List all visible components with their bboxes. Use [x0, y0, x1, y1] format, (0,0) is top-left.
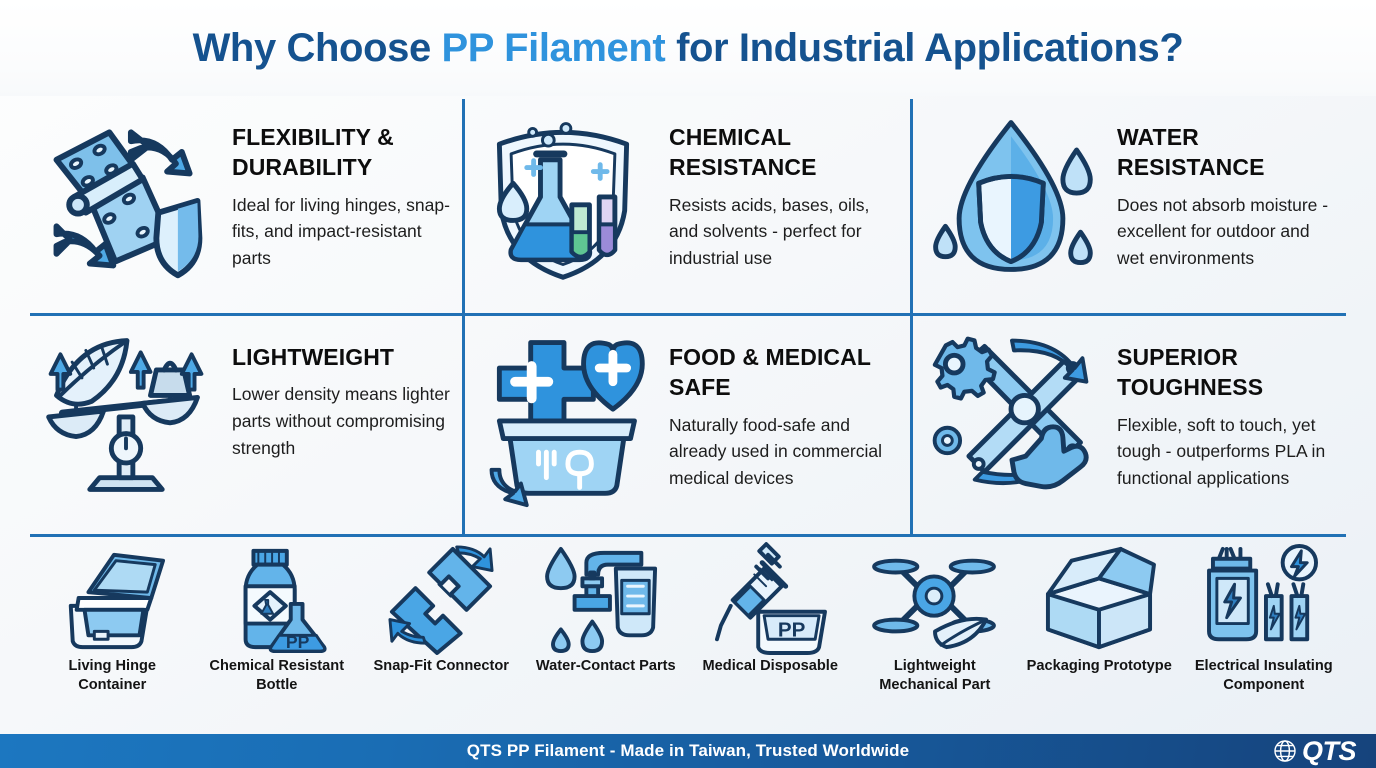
application-label: Living Hinge Container — [30, 657, 195, 694]
feature-card-chemical-resistance: CHEMICAL RESISTANCE Resists acids, bases… — [467, 100, 897, 314]
feature-text-block: WATER RESISTANCE Does not absorb moistur… — [1107, 100, 1346, 272]
globe-icon — [1272, 738, 1298, 764]
medical-cross-heart-container-icon — [467, 320, 659, 512]
grid-divider-vertical-2 — [910, 99, 913, 537]
application-label: Water-Contact Parts — [532, 657, 680, 676]
page-title-accent: PP Filament — [442, 26, 666, 70]
application-item-packaging-prototype: Packaging Prototype — [1017, 541, 1182, 727]
feature-card-flexibility-durability: FLEXIBILITY & DURABILITY Ideal for livin… — [30, 100, 460, 314]
feather-scale-icon — [30, 320, 222, 512]
feature-text-block: FOOD & MEDICAL SAFE Naturally food-safe … — [659, 320, 897, 492]
feature-heading: CHEMICAL RESISTANCE — [669, 122, 891, 183]
application-label: Electrical Insulating Component — [1182, 657, 1347, 694]
feature-heading: LIGHTWEIGHT — [232, 342, 450, 372]
footer-tagline: QTS PP Filament - Made in Taiwan, Truste… — [0, 741, 1376, 761]
feature-body: Naturally food-safe and already used in … — [669, 412, 887, 492]
open-box-icon — [1017, 541, 1182, 657]
application-label: Snap-Fit Connector — [370, 657, 513, 676]
page-title-part2: for Industrial Applications? — [665, 26, 1183, 70]
feature-body: Flexible, soft to touch, yet tough - out… — [1117, 412, 1340, 492]
gear-beam-hand-icon — [915, 320, 1107, 512]
hinge-flex-shield-icon — [30, 100, 222, 292]
application-item-living-hinge-container: Living Hinge Container — [30, 541, 195, 727]
faucet-filter-droplet-icon — [524, 541, 689, 657]
grid-divider-vertical-1 — [462, 99, 465, 537]
application-item-lightweight-mechanical-part: Lightweight Mechanical Part — [853, 541, 1018, 727]
feature-body: Lower density means lighter parts withou… — [232, 381, 450, 461]
syringe-tray-icon: PP — [688, 541, 853, 657]
page-title-part1: Why Choose — [193, 26, 442, 70]
feature-body: Does not absorb moisture - excellent for… — [1117, 192, 1340, 272]
brand-name: QTS — [1302, 738, 1356, 765]
feature-card-lightweight: LIGHTWEIGHT Lower density means lighter … — [30, 320, 460, 534]
application-item-electrical-insulating-component: Electrical Insulating Component — [1182, 541, 1347, 727]
feature-card-water-resistance: WATER RESISTANCE Does not absorb moistur… — [915, 100, 1346, 314]
infographic-canvas: Why Choose PP Filament for Industrial Ap… — [0, 0, 1376, 768]
feature-grid: FLEXIBILITY & DURABILITY Ideal for livin… — [30, 96, 1346, 537]
feature-body: Resists acids, bases, oils, and solvents… — [669, 192, 887, 272]
feature-body: Ideal for living hinges, snap-fits, and … — [232, 192, 450, 272]
application-badge-pp: PP — [286, 632, 310, 652]
feature-heading: WATER RESISTANCE — [1117, 122, 1340, 183]
application-badge-pp: PP — [778, 618, 806, 641]
application-item-snap-fit-connector: Snap-Fit Connector — [359, 541, 524, 727]
application-label: Chemical Resistant Bottle — [195, 657, 360, 694]
brand-lockup: QTS — [1272, 734, 1356, 768]
applications-strip: Living Hinge Container PP — [30, 541, 1346, 727]
feature-card-superior-toughness: SUPERIOR TOUGHNESS Flexible, soft to tou… — [915, 320, 1346, 534]
chemical-flask-shield-icon — [467, 100, 659, 292]
application-item-water-contact-parts: Water-Contact Parts — [524, 541, 689, 727]
water-droplet-shield-icon — [915, 100, 1107, 292]
page-title: Why Choose PP Filament for Industrial Ap… — [193, 26, 1184, 71]
drone-feather-icon — [853, 541, 1018, 657]
feature-text-block: SUPERIOR TOUGHNESS Flexible, soft to tou… — [1107, 320, 1346, 492]
feature-heading: SUPERIOR TOUGHNESS — [1117, 342, 1340, 403]
feature-heading: FOOD & MEDICAL SAFE — [669, 342, 891, 403]
snap-fit-connector-icon — [359, 541, 524, 657]
electrical-junction-box-icon — [1182, 541, 1347, 657]
grid-divider-horizontal-2 — [30, 534, 1346, 537]
feature-text-block: LIGHTWEIGHT Lower density means lighter … — [222, 320, 456, 462]
application-item-chemical-resistant-bottle: PP Chemical Resistant Bottle — [195, 541, 360, 727]
title-banner: Why Choose PP Filament for Industrial Ap… — [0, 0, 1376, 96]
feature-heading: FLEXIBILITY & DURABILITY — [232, 122, 454, 183]
chemical-bottle-flask-icon: PP — [195, 541, 360, 657]
feature-card-food-medical-safe: FOOD & MEDICAL SAFE Naturally food-safe … — [467, 320, 897, 534]
footer-bar: QTS PP Filament - Made in Taiwan, Truste… — [0, 734, 1376, 768]
application-label: Lightweight Mechanical Part — [853, 657, 1018, 694]
application-label: Medical Disposable — [699, 657, 842, 676]
application-item-medical-disposable: PP Medical Disposable — [688, 541, 853, 727]
hinged-container-icon — [30, 541, 195, 657]
application-label: Packaging Prototype — [1023, 657, 1176, 676]
feature-text-block: FLEXIBILITY & DURABILITY Ideal for livin… — [222, 100, 460, 272]
feature-text-block: CHEMICAL RESISTANCE Resists acids, bases… — [659, 100, 897, 272]
